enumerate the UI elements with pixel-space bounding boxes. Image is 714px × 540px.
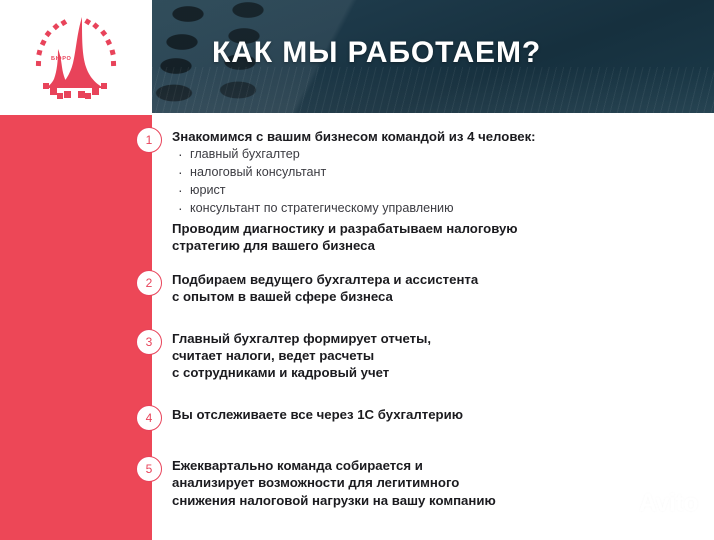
step-number-badge: 1 bbox=[136, 127, 162, 153]
page-title: КАК МЫ РАБОТАЕМ? bbox=[212, 36, 541, 70]
header-photo-background: КАК МЫ РАБОТАЕМ? bbox=[152, 0, 714, 113]
step-title: Подбираем ведущего бухгалтера и ассистен… bbox=[172, 271, 478, 306]
list-item: налоговый консультант bbox=[172, 164, 536, 182]
step-title: Знакомимся с вашим бизнесом командой из … bbox=[172, 128, 536, 145]
step-content: Знакомимся с вашим бизнесом командой из … bbox=[172, 126, 536, 255]
company-logo-icon: БЮРО bbox=[24, 9, 128, 105]
step-number-badge: 5 bbox=[136, 456, 162, 482]
avito-watermark: Avito bbox=[613, 489, 698, 518]
logo-wordmark: БЮРО bbox=[51, 56, 72, 62]
top-band: БЮРО КАК МЫ РАБОТАЕМ? bbox=[0, 0, 714, 113]
step-item: 3 Главный бухгалтер формирует отчеты, сч… bbox=[136, 328, 696, 382]
logo-panel: БЮРО bbox=[0, 0, 152, 113]
avito-wordmark: Avito bbox=[639, 489, 698, 518]
step-number-badge: 3 bbox=[136, 329, 162, 355]
step-number-badge: 2 bbox=[136, 270, 162, 296]
avito-dots-icon bbox=[613, 493, 639, 515]
step-content: Ежеквартально команда собирается и анали… bbox=[172, 455, 496, 509]
step-title: Вы отслеживаете все через 1С бухгалтерию bbox=[172, 406, 463, 423]
step-footnote: Проводим диагностику и разрабатываем нал… bbox=[172, 220, 536, 255]
step-content: Подбираем ведущего бухгалтера и ассистен… bbox=[172, 269, 478, 306]
steps-list: 1 Знакомимся с вашим бизнесом командой и… bbox=[136, 126, 696, 526]
list-item: юрист bbox=[172, 182, 536, 200]
step-item: 2 Подбираем ведущего бухгалтера и ассист… bbox=[136, 269, 696, 306]
slide-canvas: БЮРО КАК МЫ РАБОТАЕМ? 1 Знакомимся с ваш… bbox=[0, 0, 714, 540]
step-content: Главный бухгалтер формирует отчеты, счит… bbox=[172, 328, 431, 382]
list-item: главный бухгалтер bbox=[172, 146, 536, 164]
left-accent-column bbox=[0, 115, 152, 540]
step-title: Ежеквартально команда собирается и анали… bbox=[172, 457, 496, 509]
step-title: Главный бухгалтер формирует отчеты, счит… bbox=[172, 330, 431, 382]
list-item: консультант по стратегическому управлени… bbox=[172, 200, 536, 218]
step-number-badge: 4 bbox=[136, 405, 162, 431]
step-item: 1 Знакомимся с вашим бизнесом командой и… bbox=[136, 126, 696, 255]
step-content: Вы отслеживаете все через 1С бухгалтерию bbox=[172, 404, 463, 423]
step-bullet-list: главный бухгалтер налоговый консультант … bbox=[172, 146, 536, 218]
step-item: 4 Вы отслеживаете все через 1С бухгалтер… bbox=[136, 404, 696, 431]
